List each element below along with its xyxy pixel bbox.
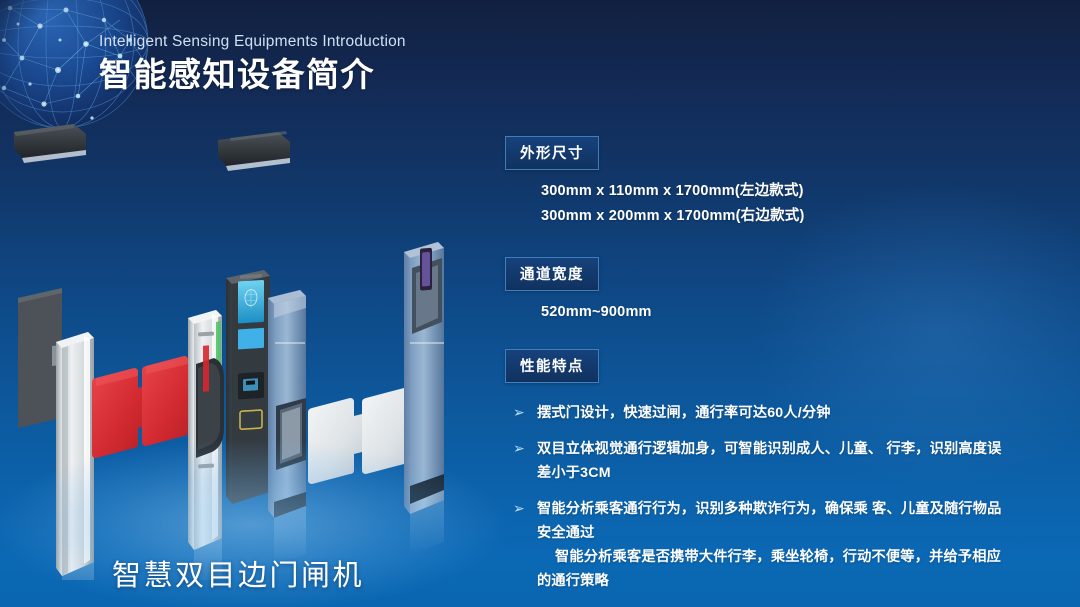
- product-illustration: [0, 110, 470, 580]
- gate-pillar-blue-right: [404, 242, 444, 514]
- section-heading-features: 性能特点: [505, 349, 599, 383]
- spacer-2: [505, 325, 1005, 349]
- spec-section-features: 性能特点 ➢ 摆式门设计，快速过闸，通行率可达60人/分钟 ➢ 双目立体视觉通行…: [505, 349, 1005, 607]
- slide-header: Intelligent Sensing Equipments Introduct…: [99, 33, 406, 95]
- list-item: ➢ 双目立体视觉通行逻辑加身，可智能识别成人、儿童、 行李，识别高度误差小于3C…: [513, 437, 1005, 485]
- list-item: ➢ 智能分析乘客通行行为，识别多种欺诈行为，确保乘 客、儿童及随行物品安全通过 …: [513, 497, 1005, 593]
- header-eyebrow: Intelligent Sensing Equipments Introduct…: [99, 33, 406, 52]
- page-title: 智能感知设备简介: [99, 56, 406, 95]
- spacer-1: [505, 229, 1005, 257]
- spec-panel: 外形尺寸 300mm x 110mm x 1700mm(左边款式) 300mm …: [505, 136, 1005, 607]
- feature-text-3: 智能分析乘客通行行为，识别多种欺诈行为，确保乘 客、儿童及随行物品安全通过 智能…: [537, 497, 1005, 593]
- arrow-bullet-icon: ➢: [513, 438, 537, 459]
- product-caption: 智慧双目边门闸机: [112, 552, 364, 594]
- dimension-value-left: 300mm x 110mm x 1700mm(左边款式): [541, 179, 1005, 204]
- section-body-dimensions: 300mm x 110mm x 1700mm(左边款式) 300mm x 200…: [541, 179, 1005, 229]
- feature-text-3-main: 智能分析乘客通行行为，识别多种欺诈行为，确保乘 客、儿童及随行物品安全通过: [537, 501, 1002, 541]
- gate-wing-red-1: [92, 368, 146, 458]
- overhead-sensor-left: [14, 124, 86, 163]
- dimension-value-right: 300mm x 200mm x 1700mm(右边款式): [541, 204, 1005, 229]
- face-recognition-terminal: [226, 270, 270, 504]
- spec-section-width: 通道宽度 520mm~900mm: [505, 257, 1005, 325]
- width-value: 520mm~900mm: [541, 300, 1005, 325]
- gate-wing-red-2: [142, 356, 196, 446]
- feature-bullet-list: ➢ 摆式门设计，快速过闸，通行率可达60人/分钟 ➢ 双目立体视觉通行逻辑加身，…: [513, 401, 1005, 607]
- list-item: ➢ 摆式门设计，快速过闸，通行率可达60人/分钟: [513, 401, 1005, 425]
- feature-text-2: 双目立体视觉通行逻辑加身，可智能识别成人、儿童、 行李，识别高度误差小于3CM: [537, 437, 1005, 485]
- feature-text-1: 摆式门设计，快速过闸，通行率可达60人/分钟: [537, 401, 1005, 425]
- gate-wing-white-1: [308, 398, 362, 484]
- spec-section-dimensions: 外形尺寸 300mm x 110mm x 1700mm(左边款式) 300mm …: [505, 136, 1005, 229]
- section-heading-width: 通道宽度: [505, 257, 599, 291]
- section-body-width: 520mm~900mm: [541, 300, 1005, 325]
- slide-root: Intelligent Sensing Equipments Introduct…: [0, 0, 1080, 607]
- section-heading-dimensions: 外形尺寸: [505, 136, 599, 170]
- feature-text-3-sub: 智能分析乘客是否携带大件行李，乘坐轮椅，行动不便等，并给予相应的通行策略: [537, 545, 1005, 593]
- gate-pillar-blue-left: [268, 290, 306, 518]
- overhead-sensor-right: [218, 131, 290, 171]
- arrow-bullet-icon: ➢: [513, 402, 537, 423]
- arrow-bullet-icon: ➢: [513, 498, 537, 519]
- gate-pillar-silver-left: [56, 332, 94, 576]
